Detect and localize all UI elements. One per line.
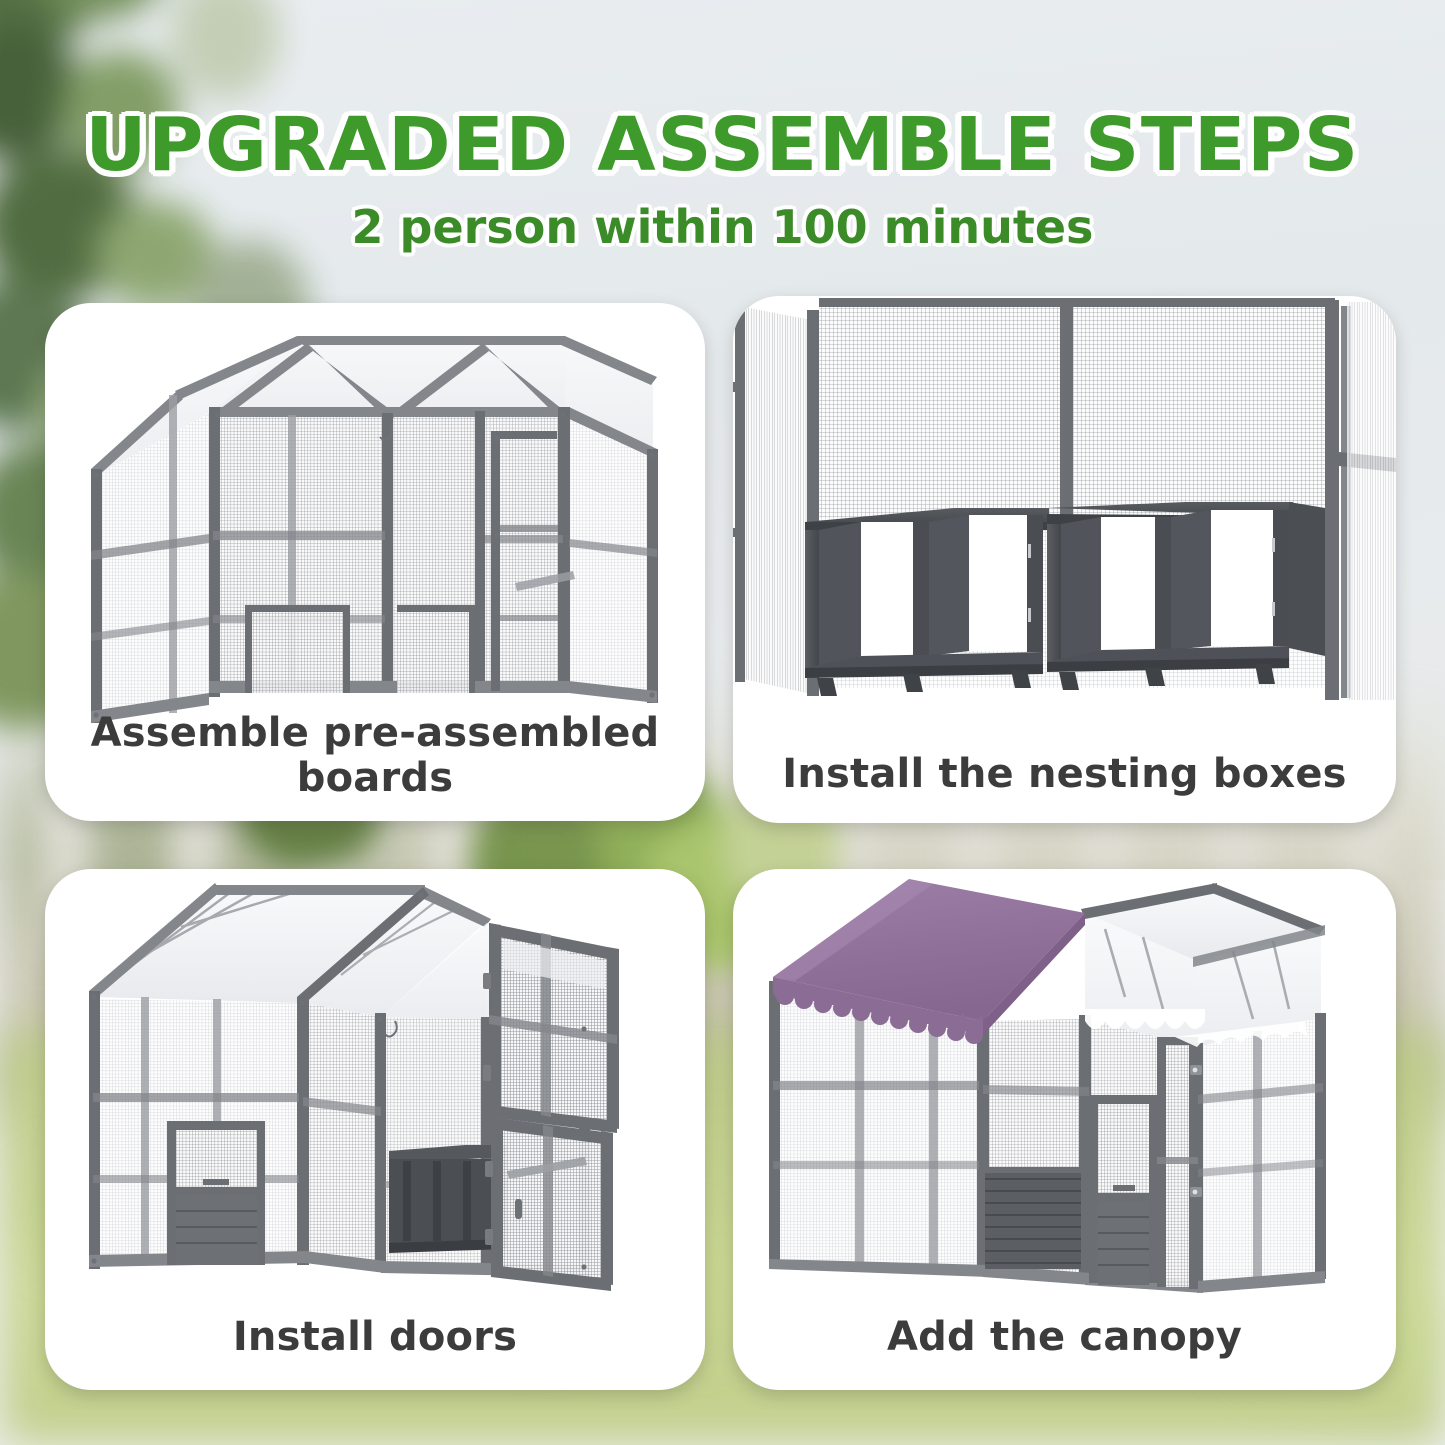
step-card-4[interactable]: Add the canopy <box>733 869 1396 1390</box>
header: UPGRADED ASSEMBLE STEPS 2 person within … <box>0 0 1445 250</box>
step-4-caption: Add the canopy <box>733 1315 1396 1360</box>
step-3-caption: Install doors <box>45 1315 705 1360</box>
step-card-1[interactable]: Assemble pre-assembled boards <box>45 303 705 821</box>
step-1-caption: Assemble pre-assembled boards <box>45 711 705 801</box>
step-2-illustration <box>733 296 1396 725</box>
step-1-illustration <box>45 303 705 737</box>
step-3-illustration <box>45 869 705 1303</box>
page-title: UPGRADED ASSEMBLE STEPS <box>0 108 1445 182</box>
step-card-3[interactable]: Install doors <box>45 869 705 1390</box>
step-card-2[interactable]: Install the nesting boxes <box>733 296 1396 823</box>
step-4-illustration <box>733 869 1396 1303</box>
page-subtitle: 2 person within 100 minutes <box>0 204 1445 250</box>
step-2-caption: Install the nesting boxes <box>733 752 1396 797</box>
